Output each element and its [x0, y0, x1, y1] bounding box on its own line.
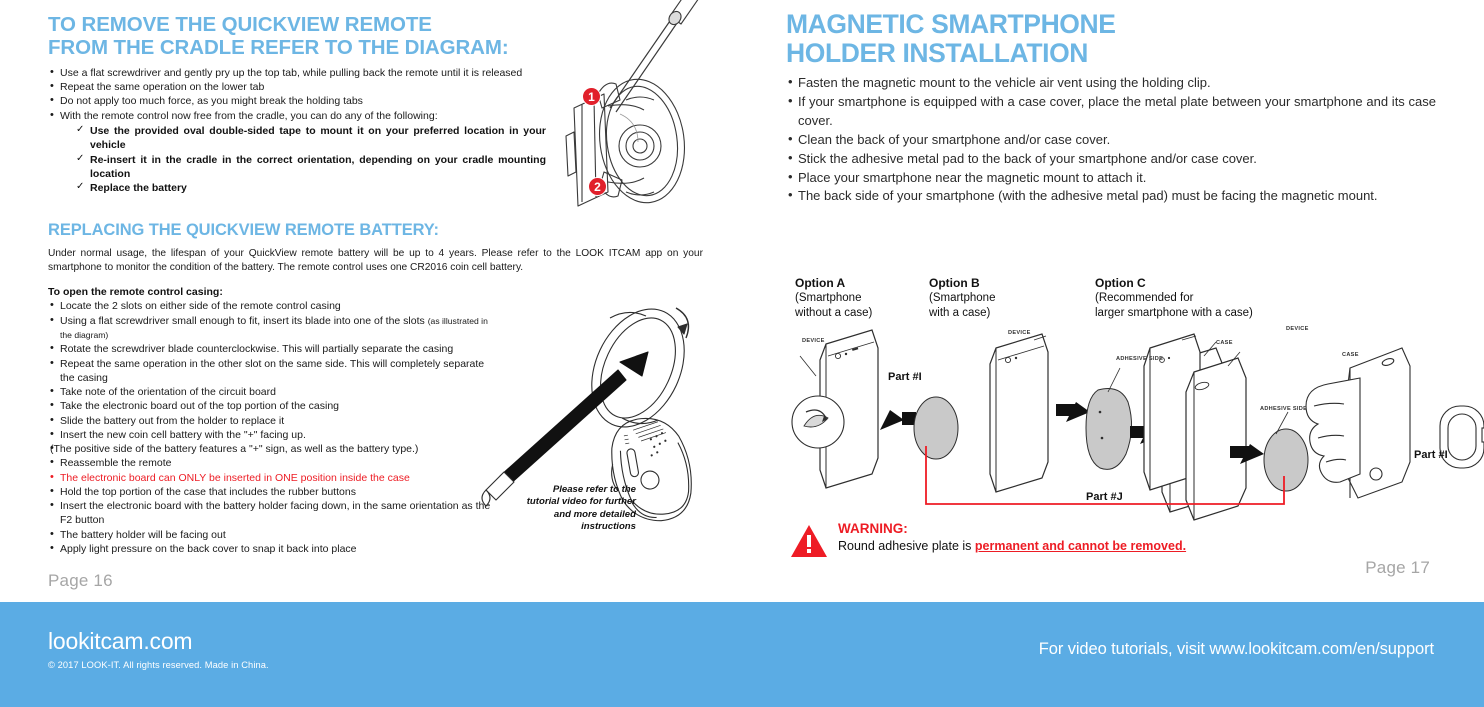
battery-polarity-note: (The positive side of the battery featur…	[48, 442, 498, 456]
svg-text:CASE: CASE	[1342, 352, 1359, 358]
check-item: Replace the battery	[76, 181, 546, 195]
warning-label: WARNING:	[838, 521, 908, 536]
list-item: Do not apply too much force, as you migh…	[48, 94, 543, 108]
check-item: Use the provided oval double-sided tape …	[76, 124, 546, 153]
option-headers: Option A (Smartphone without a case) Opt…	[795, 276, 1435, 322]
mounting-options-diagram: DEVICE DEVICE ADHESIVE SIDE CASE DEVICE …	[786, 318, 1484, 528]
manual-page-spread: TO REMOVE THE QUICKVIEW REMOTE FROM THE …	[0, 0, 1484, 707]
list-item-warning: The electronic board can ONLY be inserte…	[48, 471, 498, 485]
left-section1-title-line1: TO REMOVE THE QUICKVIEW REMOTE	[48, 13, 432, 36]
list-item: The battery holder will be facing out	[48, 528, 498, 542]
footer-brand: lookitcam.com	[48, 628, 192, 655]
option-c-title: Option C	[1095, 276, 1253, 291]
svg-text:DEVICE: DEVICE	[1286, 326, 1309, 332]
list-item: Fasten the magnetic mount to the vehicle…	[786, 74, 1436, 93]
left-section1-title-line2: FROM THE CRADLE REFER TO THE DIAGRAM:	[48, 36, 509, 59]
list-item: Insert the new coin cell battery with th…	[48, 428, 498, 442]
left-section1-checklist: Use the provided oval double-sided tape …	[76, 124, 546, 195]
warning-text-plain: Round adhesive plate is	[838, 539, 975, 553]
option-a-desc-1: (Smartphone	[795, 291, 872, 306]
open-casing-subheading: To open the remote control casing:	[48, 286, 738, 298]
warning-triangle-icon	[790, 524, 828, 558]
list-item: Locate the 2 slots on either side of the…	[48, 299, 498, 313]
right-page-bullets: Fasten the magnetic mount to the vehicle…	[786, 74, 1436, 206]
page-number-left: Page 16	[48, 571, 113, 591]
footer-copyright: © 2017 LOOK-IT. All rights reserved. Mad…	[48, 660, 269, 670]
list-item: Insert the electronic board with the bat…	[48, 499, 498, 528]
svg-text:ADHESIVE SIDE: ADHESIVE SIDE	[1116, 356, 1163, 362]
tutorial-video-note: Please refer to the tutorial video for f…	[524, 484, 636, 534]
option-a-title: Option A	[795, 276, 872, 291]
list-item: With the remote control now free from th…	[48, 109, 543, 123]
left-section2-bullets: Locate the 2 slots on either side of the…	[48, 299, 498, 556]
list-item: Take note of the orientation of the circ…	[48, 385, 498, 399]
list-item-text: Using a flat screwdriver small enough to…	[60, 315, 425, 327]
list-item: If your smartphone is equipped with a ca…	[786, 93, 1436, 131]
svg-text:Part #I: Part #I	[888, 371, 922, 383]
page-footer: lookitcam.com © 2017 LOOK-IT. All rights…	[0, 602, 1484, 707]
battery-lifespan-paragraph: Under normal usage, the lifespan of your…	[48, 247, 703, 275]
list-item: Take the electronic board out of the top…	[48, 399, 498, 413]
option-b-header: Option B (Smartphone with a case)	[929, 276, 995, 321]
svg-text:ADHESIVE SIDE: ADHESIVE SIDE	[1260, 406, 1307, 412]
list-item: Slide the battery out from the holder to…	[48, 414, 498, 428]
option-a-header: Option A (Smartphone without a case)	[795, 276, 872, 321]
list-item: The back side of your smartphone (with t…	[786, 187, 1436, 206]
list-item: Use a flat screwdriver and gently pry up…	[48, 66, 543, 80]
list-item: Repeat the same operation in the other s…	[48, 357, 498, 386]
svg-text:CASE: CASE	[1216, 340, 1233, 346]
svg-text:Part #I: Part #I	[1414, 449, 1448, 461]
mounting-options-illustration: DEVICE DEVICE ADHESIVE SIDE CASE DEVICE …	[786, 318, 1484, 528]
svg-text:Part #J: Part #J	[1086, 491, 1123, 503]
list-item: Clean the back of your smartphone and/or…	[786, 131, 1436, 150]
page-number-right: Page 17	[1365, 558, 1430, 578]
right-title-line1: MAGNETIC SMARTPHONE	[786, 9, 1116, 39]
warning-block: WARNING: Round adhesive plate is permane…	[790, 521, 1310, 565]
option-c-header: Option C (Recommended for larger smartph…	[1095, 276, 1253, 321]
option-b-title: Option B	[929, 276, 995, 291]
svg-text:DEVICE: DEVICE	[1008, 330, 1031, 336]
list-item: Reassemble the remote	[48, 456, 498, 470]
right-section-title: MAGNETIC SMARTPHONE HOLDER INSTALLATION	[786, 10, 1446, 68]
list-item: Hold the top portion of the case that in…	[48, 485, 498, 499]
cradle-removal-diagram: 1 2	[536, 0, 736, 240]
list-item: Repeat the same operation on the lower t…	[48, 80, 543, 94]
list-item: Stick the adhesive metal pad to the back…	[786, 150, 1436, 169]
list-item: Apply light pressure on the back cover t…	[48, 542, 498, 556]
left-section1-bullets: Use a flat screwdriver and gently pry up…	[48, 66, 543, 123]
callout-marker-1: 1	[582, 87, 601, 106]
option-c-desc-1: (Recommended for	[1095, 291, 1253, 306]
svg-text:DEVICE: DEVICE	[802, 338, 825, 344]
cradle-removal-illustration	[536, 0, 736, 240]
right-title-line2: HOLDER INSTALLATION	[786, 38, 1088, 68]
check-item: Re-insert it in the cradle in the correc…	[76, 153, 546, 182]
list-item: Using a flat screwdriver small enough to…	[48, 314, 498, 343]
list-item: Rotate the screwdriver blade countercloc…	[48, 342, 498, 356]
warning-text-emphasis: permanent and cannot be removed.	[975, 539, 1186, 553]
callout-marker-2: 2	[588, 177, 607, 196]
list-item: Place your smartphone near the magnetic …	[786, 169, 1436, 188]
footer-support-link[interactable]: For video tutorials, visit www.lookitcam…	[1039, 640, 1434, 659]
option-b-desc-1: (Smartphone	[929, 291, 995, 306]
warning-text: Round adhesive plate is permanent and ca…	[838, 539, 1186, 553]
